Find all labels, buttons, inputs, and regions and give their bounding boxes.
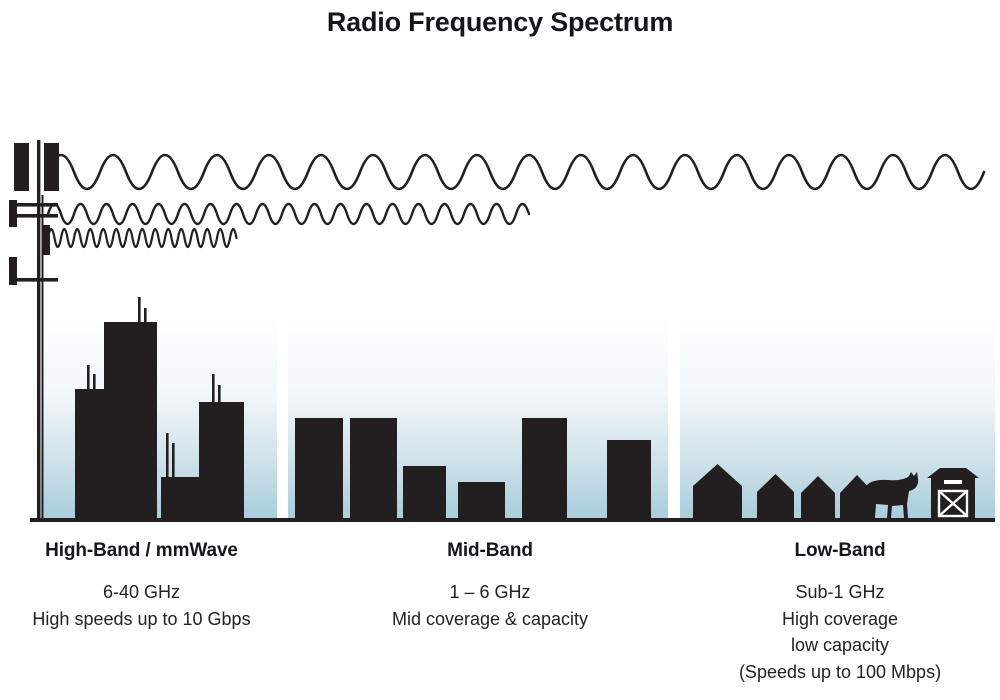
panel-high-band-building [161, 477, 201, 518]
band-detail-line: Mid coverage & capacity [330, 606, 650, 633]
tower-crossbar-mid [16, 214, 58, 218]
antenna-panel-small-right [42, 225, 50, 255]
panel-mid-band-building [350, 418, 397, 518]
ground-baseline [30, 518, 995, 522]
panel-mid-band-building [522, 418, 567, 518]
caption-low-band: Low-Band Sub-1 GHzHigh coveragelow capac… [680, 540, 1000, 686]
band-detail-line: 6-40 GHz [0, 579, 283, 606]
band-detail-line: 1 – 6 GHz [330, 579, 650, 606]
tower-crossbar-lower [16, 278, 58, 282]
mid-band-wave [48, 204, 529, 224]
ground-line [30, 518, 995, 522]
tower-crossbar-upper [16, 203, 58, 207]
panel-mid-band-building [403, 466, 446, 518]
panel-mid-band-building [458, 482, 505, 518]
panels-layer [38, 297, 995, 518]
band-title-low: Low-Band [680, 540, 1000, 562]
scene-svg [0, 118, 1000, 530]
page-title: Radio Frequency Spectrum [0, 0, 1000, 44]
panel-high-band-spire [166, 433, 169, 483]
caption-high-band: High-Band / mmWave 6-40 GHzHigh speeds u… [0, 540, 283, 632]
low-band-wave [48, 155, 984, 189]
band-detail-line: (Speeds up to 100 Mbps) [680, 659, 1000, 686]
barn-icon [927, 468, 979, 518]
antenna-panel-small-lower [9, 257, 17, 285]
band-details-mid: 1 – 6 GHzMid coverage & capacity [330, 579, 650, 632]
band-detail-line: Sub-1 GHz [680, 579, 1000, 606]
panel-mid-band-building [607, 440, 651, 518]
band-title-mid: Mid-Band [330, 540, 650, 562]
antenna-panel-right [44, 143, 59, 191]
band-captions: High-Band / mmWave 6-40 GHzHigh speeds u… [0, 540, 1000, 700]
band-detail-line: low capacity [680, 632, 1000, 659]
infographic-root: Radio Frequency Spectrum High-Band / mmW… [0, 0, 1000, 700]
panel-mid-band-building [295, 418, 343, 518]
antenna-panel-small-left [9, 200, 17, 227]
barn-loft-vent [944, 480, 962, 484]
high-band-wave [48, 229, 237, 247]
antenna-panel-left [14, 143, 29, 191]
waves-layer [48, 155, 984, 247]
tower-mast [37, 140, 40, 520]
band-details-high: 6-40 GHzHigh speeds up to 10 Gbps [0, 579, 283, 632]
band-detail-line: High speeds up to 10 Gbps [0, 606, 283, 633]
panel-high-band-building [104, 322, 157, 518]
band-detail-line: High coverage [680, 606, 1000, 633]
caption-mid-band: Mid-Band 1 – 6 GHzMid coverage & capacit… [330, 540, 650, 632]
band-title-high: High-Band / mmWave [0, 540, 283, 562]
panel-high-band-building [199, 402, 244, 518]
band-details-low: Sub-1 GHzHigh coveragelow capacity(Speed… [680, 579, 1000, 686]
spectrum-illustration [0, 118, 1000, 530]
